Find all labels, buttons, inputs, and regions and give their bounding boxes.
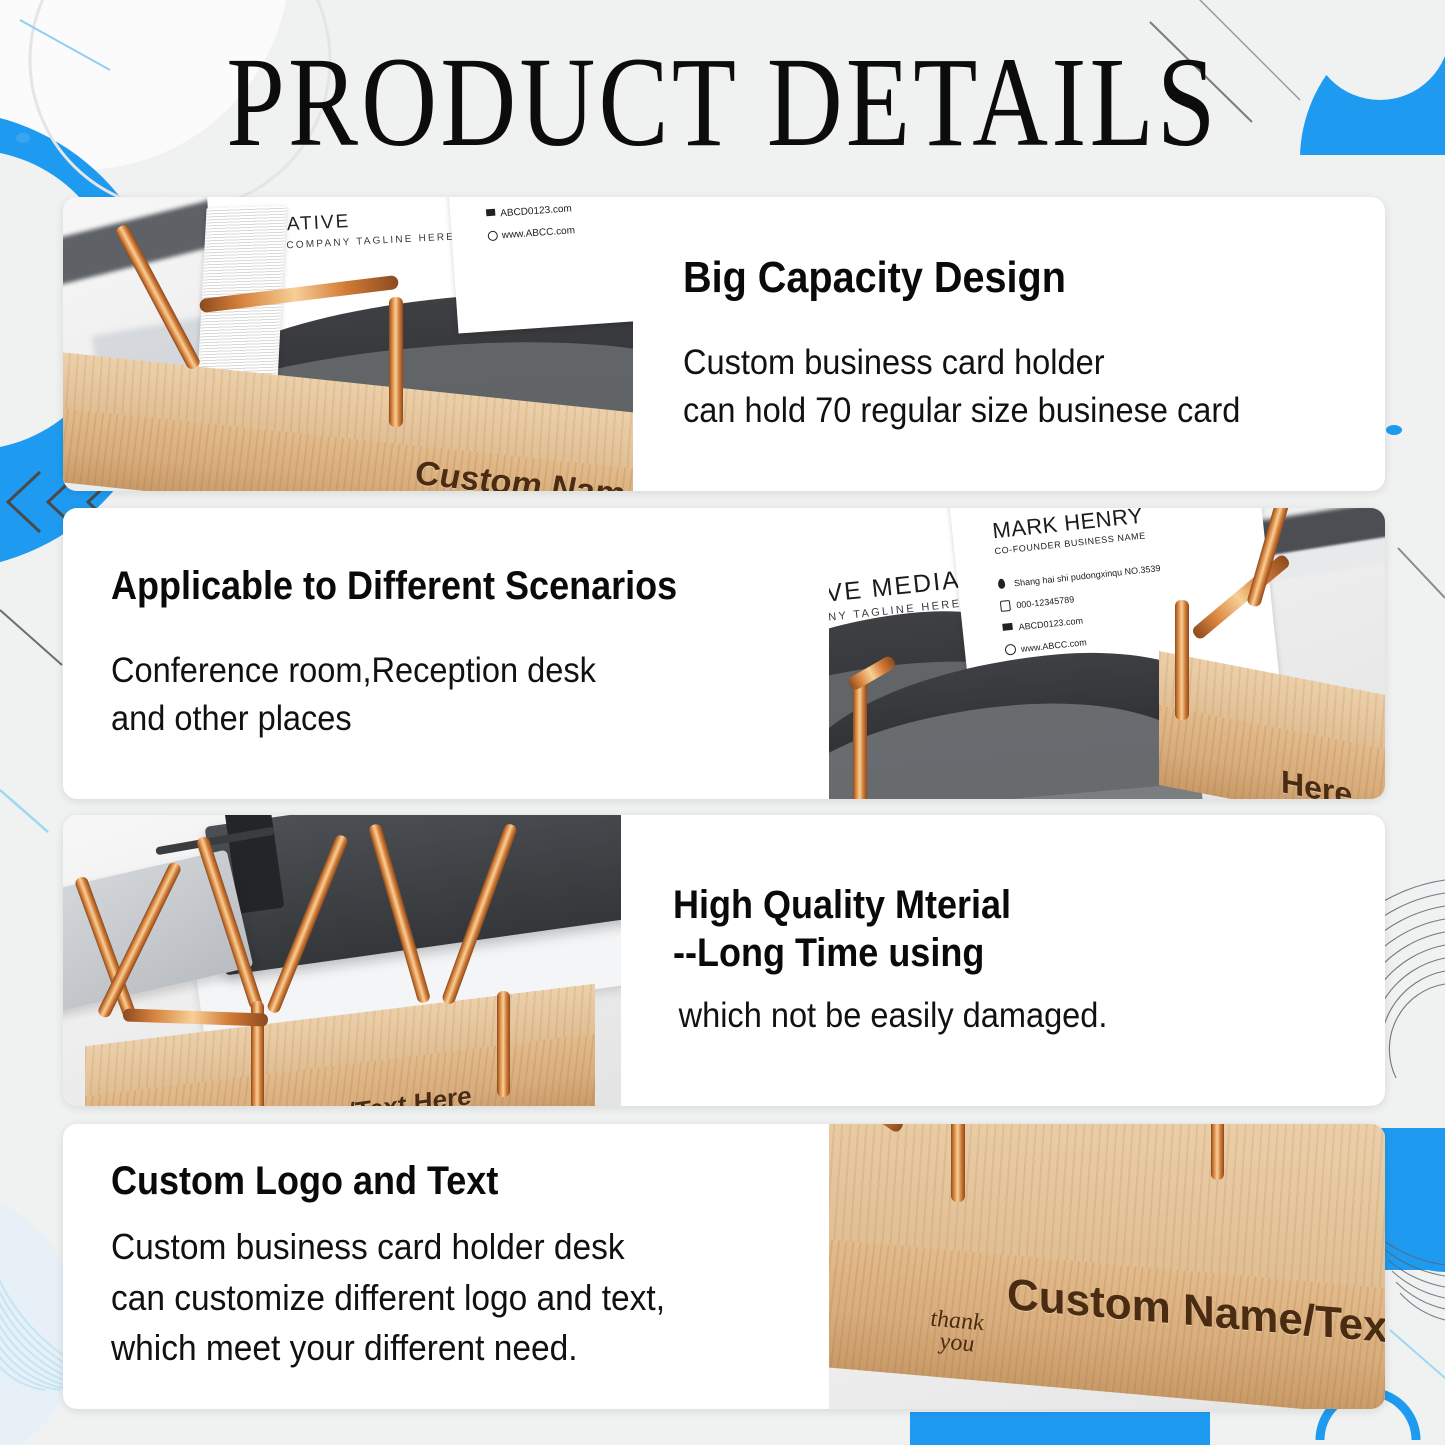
decor-line-right-1 [1398, 548, 1445, 598]
feature-panel-custom-logo: Custom Name/Text Here thank you Custom L… [63, 1124, 1385, 1409]
card-phone-text: 000-12345789 [1016, 594, 1075, 610]
decor-blue-arc-topright [1300, 10, 1445, 155]
product-photo-card-closeup: VE MEDIA NY TAGLINE HERE MARK HENRY CO-F… [829, 508, 1385, 799]
copper-post-left [951, 1124, 965, 1202]
decor-blue-bar-bottom [910, 1412, 1210, 1445]
pin-icon [998, 578, 1006, 589]
panel-heading: Custom Logo and Text [111, 1159, 739, 1204]
panel-heading: Applicable to Different Scenarios [111, 564, 739, 609]
feature-text-quality: High Quality Mterial --Long Time using w… [621, 815, 1385, 1106]
page-title: PRODUCT DETAILS [130, 38, 1315, 166]
panel-body-line-1: Custom business card holder [683, 339, 1317, 387]
feature-text-custom-logo: Custom Logo and Text Custom business car… [63, 1124, 829, 1409]
panel-heading: Big Capacity Design [683, 253, 1297, 303]
product-photo-engraving-closeup: Custom Name/Text Here thank you [829, 1124, 1385, 1409]
panel-heading-line-1: High Quality Mterial [673, 881, 1296, 930]
mail-icon [1002, 623, 1013, 631]
copper-wire-post [389, 297, 403, 427]
panel-body-line-1: Conference room,Reception desk [111, 647, 760, 695]
decor-dot-topleft [16, 133, 30, 143]
phone-icon [1000, 600, 1011, 612]
business-card-right: ABCD0123.com www.ABCC.com [448, 197, 633, 334]
card-address-text: Shang hai shi pudongxinqu NO.3539 [1014, 563, 1161, 588]
decor-blue-block-bottomright [1380, 1128, 1445, 1270]
panel-heading: High Quality Mterial --Long Time using [673, 881, 1296, 979]
product-photo-empty-holder: Custom Name/Text Here [63, 815, 621, 1106]
card-email-text: ABCD0123.com [1018, 615, 1083, 632]
feature-panel-scenarios: VE MEDIA NY TAGLINE HERE MARK HENRY CO-F… [63, 508, 1385, 799]
card-web-text: www.ABCC.com [501, 225, 575, 241]
panel-heading-line-2: --Long Time using [673, 929, 1296, 978]
decor-line-left-1 [0, 610, 62, 665]
decor-dot-right [1386, 425, 1402, 435]
wire-post-right [497, 991, 510, 1097]
panel-body-line-2: can hold 70 regular size businese card [683, 387, 1317, 435]
product-photo-card-holder-full: CREATIVE YOUR COMPANY TAGLINE HERE ABCD0… [63, 197, 633, 491]
copper-post-right [1211, 1124, 1224, 1180]
decor-hatched-arc-bottomright [1380, 1238, 1445, 1320]
decor-cutout-topright [1310, 0, 1445, 100]
decor-line-bottomright [1390, 1330, 1445, 1378]
card-email-text: ABCD0123.com [500, 203, 572, 219]
globe-icon [1004, 644, 1016, 656]
panel-body-line-3: which meet your different need. [111, 1323, 760, 1373]
decor-line-topleft [20, 20, 110, 70]
feature-text-big-capacity: Big Capacity Design Custom business card… [633, 197, 1385, 491]
thank-you-line-2: you [940, 1329, 975, 1358]
card-web-text: www.ABCC.com [1020, 637, 1087, 654]
feature-text-scenarios: Applicable to Different Scenarios Confer… [63, 508, 829, 799]
feature-panel-quality: Custom Name/Text Here High Quality Mteri… [63, 815, 1385, 1106]
panel-body-line-1: Custom business card holder desk [111, 1222, 760, 1272]
feature-panel-big-capacity: CREATIVE YOUR COMPANY TAGLINE HERE ABCD0… [63, 197, 1385, 491]
panel-body-line-2: can customize different logo and text, [111, 1273, 760, 1323]
decor-line-left-2 [0, 790, 48, 832]
copper-wire-post-left [853, 676, 867, 799]
panel-body-line-2: and other places [111, 695, 760, 743]
copper-wire-post-right [1175, 600, 1189, 720]
panel-body-line-1: which not be easily damaged. [673, 992, 1317, 1040]
